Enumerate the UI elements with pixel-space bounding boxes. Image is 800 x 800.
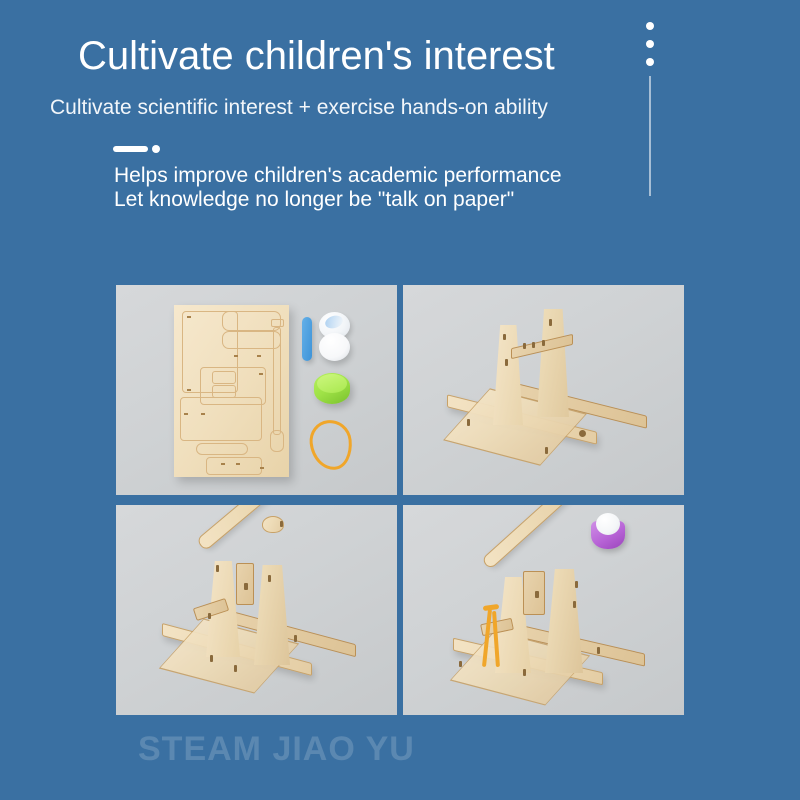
throwing-arm bbox=[481, 505, 584, 570]
divider-rule bbox=[113, 144, 163, 154]
upright-right bbox=[537, 309, 569, 417]
benefit-line-2: Let knowledge no longer be "talk on pape… bbox=[114, 188, 562, 212]
product-photo-frame-with-arm[interactable] bbox=[116, 505, 397, 715]
benefit-line-1: Helps improve children's academic perfor… bbox=[114, 164, 562, 188]
product-photo-parts-kit[interactable] bbox=[116, 285, 397, 495]
upright-right bbox=[254, 565, 290, 665]
frame-with-arm-scene bbox=[116, 505, 397, 715]
decoration-dot-3 bbox=[646, 58, 654, 66]
loaded-catapult-scene bbox=[403, 505, 684, 715]
ping-pong-ball bbox=[319, 333, 350, 361]
page-subtitle: Cultivate scientific interest + exercise… bbox=[50, 95, 548, 120]
pivot-block bbox=[523, 571, 545, 615]
product-photo-assembled-base[interactable] bbox=[403, 285, 684, 495]
brand-watermark: STEAM JIAO YU bbox=[138, 732, 415, 766]
hero-section: Cultivate children's interest Cultivate … bbox=[0, 0, 800, 270]
decoration-dot-1 bbox=[646, 22, 654, 30]
product-image-grid bbox=[116, 285, 684, 715]
rubber-band-top-loop bbox=[483, 604, 500, 611]
decoration-dot-2 bbox=[646, 40, 654, 48]
blue-foam-strip bbox=[302, 317, 312, 361]
parts-kit-scene bbox=[116, 285, 397, 495]
page-title: Cultivate children's interest bbox=[78, 34, 555, 78]
decoration-vertical-line bbox=[649, 76, 651, 196]
green-cap bbox=[314, 373, 350, 404]
upright-left bbox=[493, 325, 523, 425]
orange-rubber-band bbox=[308, 418, 355, 472]
plywood-parts-board bbox=[174, 305, 289, 477]
benefit-text-block: Helps improve children's academic perfor… bbox=[114, 164, 562, 212]
corner-decoration bbox=[646, 18, 662, 200]
product-photo-loaded-catapult[interactable] bbox=[403, 505, 684, 715]
divider-dot bbox=[152, 145, 160, 153]
divider-dash bbox=[113, 146, 148, 152]
assembled-base-scene bbox=[403, 285, 684, 495]
white-ball bbox=[596, 513, 620, 535]
